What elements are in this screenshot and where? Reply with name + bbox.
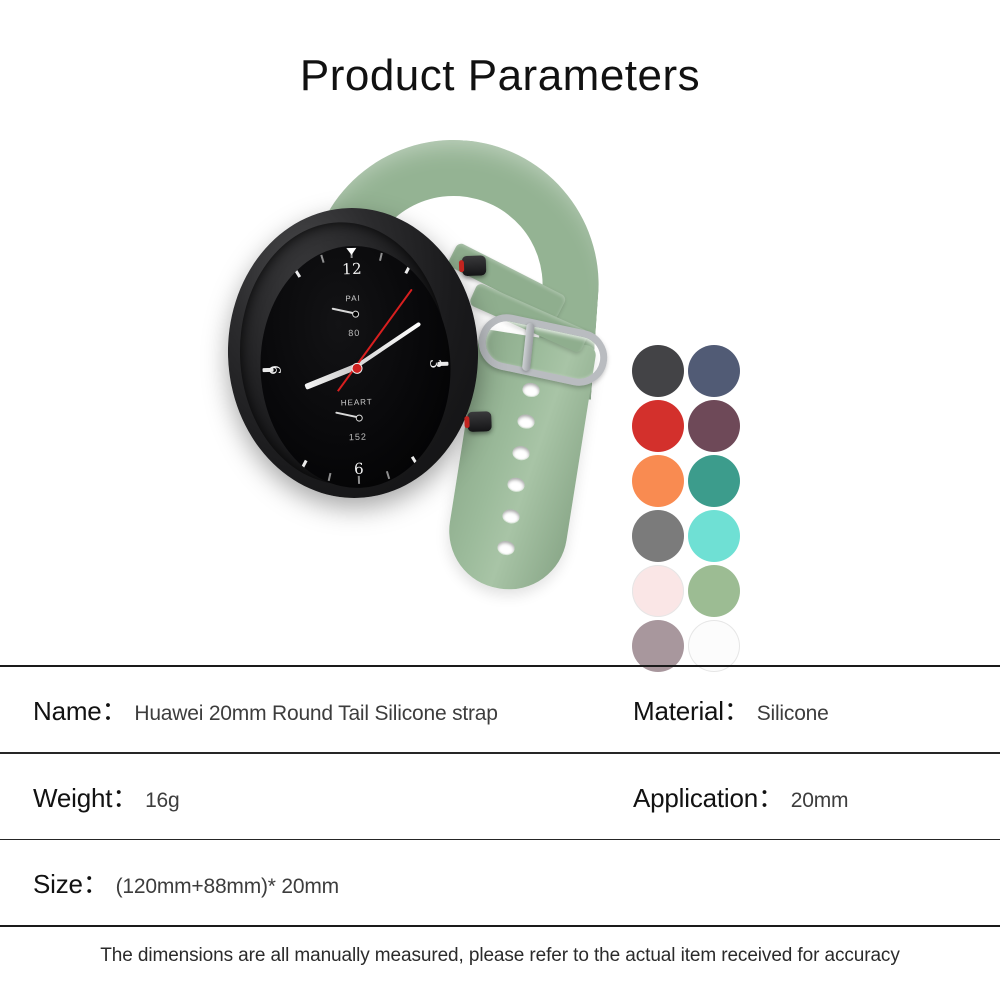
dial-numeral-9: 9 xyxy=(266,364,284,375)
dial-numeral-3: 3 xyxy=(426,359,444,370)
spec-cell-material: Material： Silicone xyxy=(633,691,829,728)
spec-value: (120mm+88mm)* 20mm xyxy=(116,875,339,899)
dial-numeral-6: 6 xyxy=(354,460,365,478)
table-divider xyxy=(0,925,1000,927)
dial-tick xyxy=(445,304,455,312)
dial-tick xyxy=(379,253,382,261)
subdial-pai-hand xyxy=(332,308,358,315)
subdial-pai-value: 80 xyxy=(348,328,360,338)
color-swatch-red[interactable] xyxy=(632,400,684,452)
watch-case: 12 3 6 9 PAI 80 HEART 152 xyxy=(223,204,483,503)
color-swatch-pale-pink[interactable] xyxy=(632,565,684,617)
dial-tick xyxy=(435,441,442,448)
smartwatch: 12 3 6 9 PAI 80 HEART 152 xyxy=(228,208,478,508)
spec-value: 20mm xyxy=(791,789,849,813)
product-image: 12 3 6 9 PAI 80 HEART 152 xyxy=(0,130,1000,660)
spec-label: Name： xyxy=(33,691,127,728)
watch-crown-upper xyxy=(462,255,487,276)
dial-tick xyxy=(256,422,266,430)
strap-hole xyxy=(522,382,541,397)
dial-tick xyxy=(256,311,262,319)
dial-tick xyxy=(404,263,412,274)
strap-hole xyxy=(517,413,536,428)
subdial-heart-value: 152 xyxy=(349,432,367,443)
dial-tick xyxy=(275,446,282,453)
spec-value: Silicone xyxy=(757,702,829,726)
strap-hole xyxy=(507,477,526,492)
table-row: Size： (120mm+88mm)* 20mm xyxy=(0,840,1000,925)
strap-hole xyxy=(502,508,521,523)
color-swatch-gray[interactable] xyxy=(632,510,684,562)
spec-cell-name: Name： Huawei 20mm Round Tail Silicone st… xyxy=(0,691,633,728)
watch-dial: 12 3 6 9 PAI 80 HEART 152 xyxy=(256,243,454,491)
spec-label: Material： xyxy=(633,691,750,728)
color-swatch-slate-blue[interactable] xyxy=(688,345,740,397)
color-swatch-charcoal[interactable] xyxy=(632,345,684,397)
color-swatch-wine-mauve[interactable] xyxy=(688,400,740,452)
dial-tick xyxy=(429,281,436,288)
watch-crown-lower xyxy=(467,411,492,432)
spec-label: Weight： xyxy=(33,778,138,815)
dial-tick xyxy=(292,267,300,278)
dial-tick xyxy=(269,287,276,294)
watch-bezel: 12 3 6 9 PAI 80 HEART 152 xyxy=(235,219,450,488)
subdial-heart-label: HEART xyxy=(341,397,373,407)
spec-value: 16g xyxy=(145,789,179,813)
dial-top-marker-icon xyxy=(346,248,356,255)
disclaimer-note: The dimensions are all manually measured… xyxy=(0,945,1000,967)
dial-tick xyxy=(328,473,331,481)
minute-hand xyxy=(354,322,421,369)
subdial-pai-label: PAI xyxy=(345,294,361,304)
strap-hole xyxy=(497,540,516,555)
dial-tick xyxy=(299,460,307,471)
dial-tick xyxy=(448,415,454,423)
dial-tick xyxy=(321,255,325,263)
spec-label: Application： xyxy=(633,778,784,815)
spec-cell-weight: Weight： 16g xyxy=(0,778,633,815)
page-title: Product Parameters xyxy=(0,52,1000,100)
dial-tick xyxy=(387,471,391,479)
subdial-heart-hand xyxy=(335,412,361,419)
spec-table: Name： Huawei 20mm Round Tail Silicone st… xyxy=(0,665,1000,927)
strap-hole xyxy=(512,445,531,460)
hand-center-cap xyxy=(351,362,362,373)
dial-tick xyxy=(410,456,418,467)
color-swatch-sage-green[interactable] xyxy=(688,565,740,617)
spec-cell-size: Size： (120mm+88mm)* 20mm xyxy=(0,864,633,901)
dial-numeral-12: 12 xyxy=(342,260,363,279)
table-row: Name： Huawei 20mm Round Tail Silicone st… xyxy=(0,667,1000,752)
color-swatch-teal[interactable] xyxy=(688,455,740,507)
second-hand xyxy=(355,289,413,368)
spec-value: Huawei 20mm Round Tail Silicone strap xyxy=(134,702,497,726)
color-swatch-turquoise[interactable] xyxy=(688,510,740,562)
spec-label: Size： xyxy=(33,864,109,901)
color-swatch-grid xyxy=(632,345,742,672)
spec-cell-application: Application： 20mm xyxy=(633,778,848,815)
color-swatch-orange[interactable] xyxy=(632,455,684,507)
table-row: Weight： 16g Application： 20mm xyxy=(0,754,1000,839)
